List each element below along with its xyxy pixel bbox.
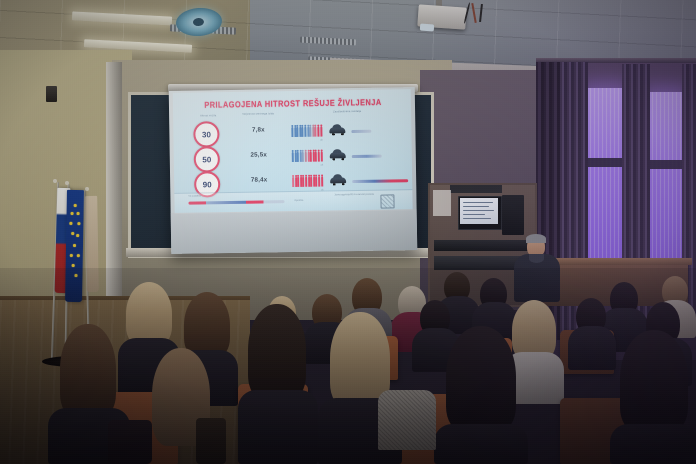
audience-torso: [238, 390, 318, 464]
risk-multiplier-30: 7,8x: [235, 126, 281, 134]
audience-torso: [378, 390, 436, 450]
people-icons-row-50: [292, 150, 323, 162]
av-rack-unit: [434, 240, 528, 251]
people-icons-row-30: [291, 125, 322, 137]
risk-multiplier-90: 78,4x: [236, 176, 282, 184]
footer-left-text: Vir podatkov: [188, 195, 228, 199]
car-icon: [329, 127, 345, 133]
audience-head: [60, 324, 116, 418]
computer-tower: [502, 195, 524, 235]
wall-fixture: [46, 86, 57, 102]
flag-pole-finial: [53, 179, 57, 183]
slide-row: 50 25,5x ok: [174, 142, 412, 171]
car-icon: [330, 177, 346, 183]
brake-label: ok: [302, 138, 342, 142]
sheer-curtain: [648, 92, 684, 274]
braking-distance-bar: [352, 155, 382, 158]
audience-head: [248, 304, 306, 400]
audience-head: [620, 330, 688, 432]
eu-flag: [65, 190, 84, 302]
presenter-collar: [529, 254, 544, 263]
projection-screen: PRILAGOJENA HITROST REŠUJE ŽIVLJENJA Hit…: [169, 87, 418, 254]
footer-right-text: Javna agencija RS za varnost prometa: [334, 194, 378, 198]
avp-logo-icon: [380, 194, 394, 208]
audience-torso: [434, 424, 528, 464]
screen-blank-area: [171, 209, 418, 254]
slide-footer: Vir podatkov Opomba Javna agencija RS za…: [174, 189, 412, 214]
flag-pole-finial: [65, 181, 69, 185]
backpack: [196, 418, 226, 464]
audience-head: [446, 326, 516, 432]
av-posted-paper: [433, 190, 451, 216]
av-top-panel: [450, 185, 502, 193]
presentation-slide: PRILAGOJENA HITROST REŠUJE ŽIVLJENJA Hit…: [173, 89, 413, 213]
risk-multiplier-50: 25,5x: [236, 151, 282, 159]
braking-distance-bar: [352, 179, 408, 183]
speed-limit-sign-30: 30: [193, 121, 219, 147]
audience-torso: [568, 326, 616, 370]
third-flag: [85, 196, 99, 292]
slide-column-header-distance: Zaustavitvena razdalja: [301, 109, 393, 114]
footer-mid-text: Opomba: [294, 199, 330, 203]
slide-column-header-speed: Hitrost vozila: [191, 114, 225, 118]
audience-head: [512, 300, 556, 360]
slide-column-header-probability: Verjetnost smrtnega izida: [235, 112, 281, 116]
car-icon: [330, 152, 346, 158]
audience-head: [184, 292, 230, 358]
presenter-hair: [526, 234, 546, 243]
footer-legend-bar: [188, 200, 284, 205]
projector-lens: [420, 24, 434, 32]
window-mullion: [648, 160, 684, 169]
people-icons-row-90: [292, 175, 323, 187]
flag-pole-finial: [85, 187, 89, 191]
brake-label: ok: [302, 163, 342, 167]
lecture-hall-photo: PRILAGOJENA HITROST REŠUJE ŽIVLJENJA Hit…: [0, 0, 696, 464]
monitor-screen: [460, 198, 498, 224]
audience-head: [126, 282, 172, 346]
sheer-curtain: [586, 88, 624, 274]
backpack: [108, 420, 152, 464]
window-mullion: [586, 158, 624, 167]
speed-limit-sign-50: 50: [194, 146, 220, 172]
audience-torso: [610, 424, 696, 464]
braking-distance-bar: [351, 130, 371, 133]
door-frame: [106, 62, 122, 332]
slide-row: 30 7,8x ok: [173, 117, 411, 146]
slide-title: PRILAGOJENA HITROST REŠUJE ŽIVLJENJA: [183, 96, 403, 110]
